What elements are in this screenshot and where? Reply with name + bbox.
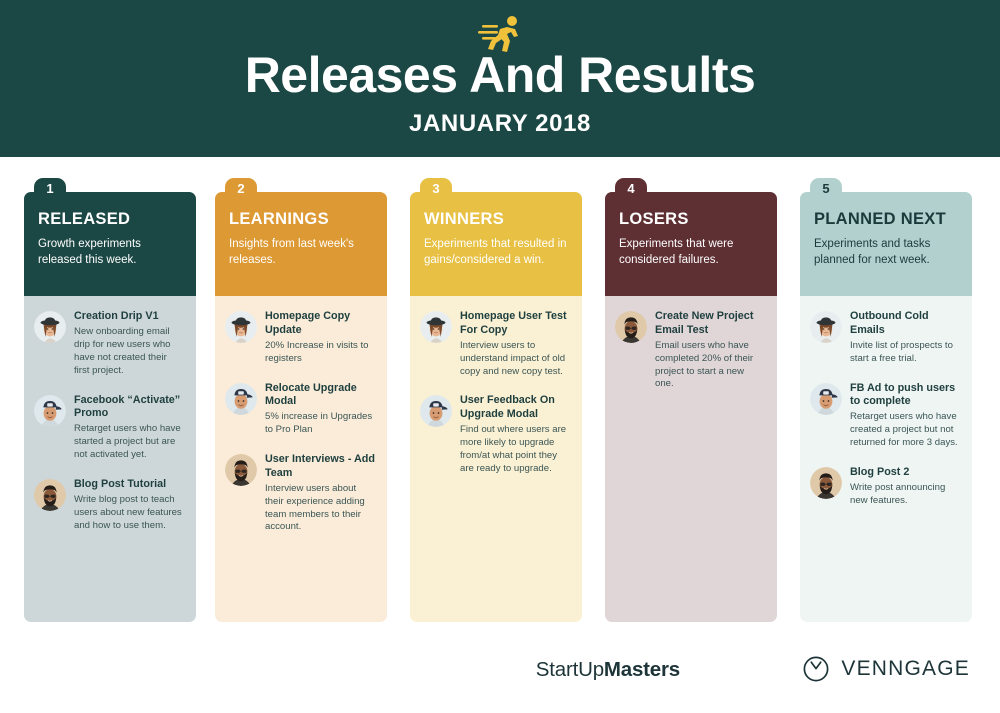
brand-logo-startupmasters: StartUpMasters	[536, 658, 680, 682]
avatar-woman-hat	[810, 311, 842, 343]
list-item-text: Homepage Copy Update 20% Increase in vis…	[265, 310, 375, 366]
list-item-title: Homepage Copy Update	[265, 310, 375, 338]
list-item-title: FB Ad to push users to complete	[850, 382, 960, 410]
venngage-logo[interactable]: VENNGAGE	[803, 656, 970, 682]
list-item[interactable]: Facebook “Activate” Promo Retarget users…	[34, 394, 184, 462]
list-item[interactable]: User Feedback On Upgrade Modal Find out …	[420, 394, 570, 475]
column-header: LEARNINGS Insights from last week's rele…	[215, 192, 387, 296]
column-title: PLANNED NEXT	[814, 210, 958, 229]
list-item-desc: Write post announcing new features.	[850, 482, 960, 508]
list-item-title: Homepage User Test For Copy	[460, 310, 570, 338]
list-item-title: Blog Post 2	[850, 466, 960, 480]
list-item-desc: 20% Increase in visits to registers	[265, 340, 375, 366]
list-item-title: User Feedback On Upgrade Modal	[460, 394, 570, 422]
avatar-man-beard-glasses	[615, 311, 647, 343]
list-item[interactable]: Homepage User Test For Copy Interview us…	[420, 310, 570, 378]
column-subtitle: Insights from last week's releases.	[229, 237, 373, 268]
list-item-text: Facebook “Activate” Promo Retarget users…	[74, 394, 184, 462]
column-number-badge: 3	[420, 178, 452, 200]
column-card-winners: 3 WINNERS Experiments that resulted in g…	[410, 178, 582, 622]
column-body: Homepage User Test For Copy Interview us…	[410, 296, 582, 622]
avatar-man-cap	[34, 395, 66, 427]
column-body: Homepage Copy Update 20% Increase in vis…	[215, 296, 387, 622]
list-item-desc: Find out where users are more likely to …	[460, 424, 570, 476]
list-item-desc: Write blog post to teach users about new…	[74, 494, 184, 533]
list-item[interactable]: FB Ad to push users to complete Retarget…	[810, 382, 960, 450]
venngage-label: VENNGAGE	[841, 657, 970, 681]
list-item-title: Relocate Upgrade Modal	[265, 382, 375, 410]
page-subtitle: JANUARY 2018	[0, 110, 1000, 138]
column-body: Create New Project Email Test Email user…	[605, 296, 777, 622]
list-item-text: Create New Project Email Test Email user…	[655, 310, 765, 391]
list-item-text: Creation Drip V1 New onboarding email dr…	[74, 310, 184, 378]
column-title: WINNERS	[424, 210, 568, 229]
column-title: LEARNINGS	[229, 210, 373, 229]
column-header: WINNERS Experiments that resulted in gai…	[410, 192, 582, 296]
list-item-desc: Interview users to understand impact of …	[460, 340, 570, 379]
list-item[interactable]: Blog Post 2 Write post announcing new fe…	[810, 466, 960, 508]
list-item[interactable]: User Interviews - Add Team Interview use…	[225, 453, 375, 534]
list-item-desc: 5% increase in Upgrades to Pro Plan	[265, 411, 375, 437]
list-item-text: Relocate Upgrade Modal 5% increase in Up…	[265, 382, 375, 438]
list-item-desc: Invite list of prospects to start a free…	[850, 340, 960, 366]
list-item[interactable]: Relocate Upgrade Modal 5% increase in Up…	[225, 382, 375, 438]
avatar-man-beard-glasses	[34, 479, 66, 511]
list-item-title: Facebook “Activate” Promo	[74, 394, 184, 422]
list-item[interactable]: Creation Drip V1 New onboarding email dr…	[34, 310, 184, 378]
list-item-title: Blog Post Tutorial	[74, 478, 184, 492]
column-card-losers: 4 LOSERS Experiments that were considere…	[605, 178, 777, 622]
page-title: Releases And Results	[0, 50, 1000, 100]
avatar-man-cap	[420, 395, 452, 427]
infographic-page: Releases And Results JANUARY 2018 1 RELE…	[0, 0, 1000, 713]
list-item-title: Outbound Cold Emails	[850, 310, 960, 338]
columns-container: 1 RELEASED Growth experiments released t…	[0, 178, 1000, 628]
avatar-man-cap	[225, 383, 257, 415]
column-subtitle: Experiments and tasks planned for next w…	[814, 237, 958, 268]
list-item-desc: New onboarding email drip for new users …	[74, 326, 184, 378]
column-number-badge: 4	[615, 178, 647, 200]
column-number-badge: 2	[225, 178, 257, 200]
brand-bold-text: Masters	[604, 658, 680, 681]
column-header: LOSERS Experiments that were considered …	[605, 192, 777, 296]
list-item-text: User Feedback On Upgrade Modal Find out …	[460, 394, 570, 475]
list-item[interactable]: Blog Post Tutorial Write blog post to te…	[34, 478, 184, 533]
column-number-badge: 5	[810, 178, 842, 200]
list-item[interactable]: Create New Project Email Test Email user…	[615, 310, 765, 391]
avatar-woman-hat	[420, 311, 452, 343]
list-item-desc: Email users who have completed 20% of th…	[655, 340, 765, 392]
list-item-desc: Interview users about their experience a…	[265, 483, 375, 535]
avatar-man-beard-glasses	[225, 454, 257, 486]
column-body: Creation Drip V1 New onboarding email dr…	[24, 296, 196, 622]
column-card-released: 1 RELEASED Growth experiments released t…	[24, 178, 196, 622]
list-item-text: FB Ad to push users to complete Retarget…	[850, 382, 960, 450]
list-item-text: Outbound Cold Emails Invite list of pros…	[850, 310, 960, 366]
column-header: PLANNED NEXT Experiments and tasks plann…	[800, 192, 972, 296]
column-card-planned-next: 5 PLANNED NEXT Experiments and tasks pla…	[800, 178, 972, 622]
column-title: RELEASED	[38, 210, 182, 229]
column-body: Outbound Cold Emails Invite list of pros…	[800, 296, 972, 622]
list-item-desc: Retarget users who have created a projec…	[850, 411, 960, 450]
column-header: RELEASED Growth experiments released thi…	[24, 192, 196, 296]
column-title: LOSERS	[619, 210, 763, 229]
page-header: Releases And Results JANUARY 2018	[0, 0, 1000, 157]
column-subtitle: Experiments that resulted in gains/consi…	[424, 237, 568, 268]
column-card-learnings: 2 LEARNINGS Insights from last week's re…	[215, 178, 387, 622]
list-item-title: User Interviews - Add Team	[265, 453, 375, 481]
avatar-woman-hat	[225, 311, 257, 343]
list-item-title: Creation Drip V1	[74, 310, 184, 324]
avatar-man-beard-glasses	[810, 467, 842, 499]
list-item-text: Homepage User Test For Copy Interview us…	[460, 310, 570, 378]
list-item[interactable]: Homepage Copy Update 20% Increase in vis…	[225, 310, 375, 366]
list-item-text: Blog Post 2 Write post announcing new fe…	[850, 466, 960, 508]
column-subtitle: Experiments that were considered failure…	[619, 237, 763, 268]
list-item-text: User Interviews - Add Team Interview use…	[265, 453, 375, 534]
avatar-woman-hat	[34, 311, 66, 343]
list-item-title: Create New Project Email Test	[655, 310, 765, 338]
avatar-man-cap	[810, 383, 842, 415]
list-item-text: Blog Post Tutorial Write blog post to te…	[74, 478, 184, 533]
list-item-desc: Retarget users who have started a projec…	[74, 423, 184, 462]
page-footer: StartUpMasters VENNGAGE	[0, 648, 1000, 713]
list-item[interactable]: Outbound Cold Emails Invite list of pros…	[810, 310, 960, 366]
venngage-circle-v-icon	[803, 656, 829, 682]
column-subtitle: Growth experiments released this week.	[38, 237, 182, 268]
brand-light-text: StartUp	[536, 658, 604, 681]
column-number-badge: 1	[34, 178, 66, 200]
